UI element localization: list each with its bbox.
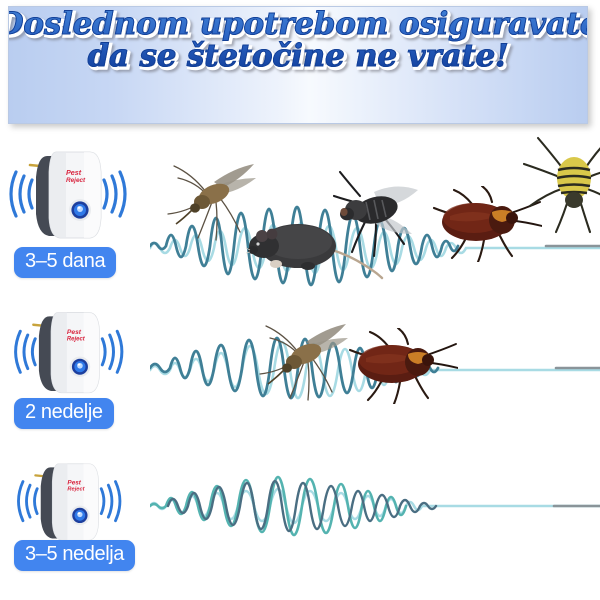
device-block-2: Pest Reject 2 nedelje (4, 292, 154, 442)
sound-wave-arcs-right (104, 172, 125, 216)
sound-wave-arcs-left (18, 482, 37, 521)
device-body-highlight (84, 313, 100, 393)
cockroach-head (422, 354, 434, 366)
duration-badge-1[interactable]: 3–5 dana (14, 247, 116, 278)
timeline-row-3: Pest Reject 3–5 nedelja (0, 444, 600, 598)
headline-line2: da se štetočine ne vrate! (8, 41, 588, 73)
device-body-shade (52, 464, 67, 541)
pest-reject-device-icon: Pest Reject (4, 446, 154, 551)
headline-wrapper: Doslednom upotrebom osiguravate da se št… (8, 9, 588, 72)
page-title: Doslednom upotrebom osiguravate da se št… (8, 9, 588, 72)
device-body-shade (49, 152, 66, 238)
pest-cockroach (348, 328, 458, 404)
rat-eye (256, 242, 259, 245)
rat-paw-rear (301, 262, 315, 270)
duration-badge-2[interactable]: 2 nedelje (14, 398, 114, 429)
rat-ear-left (256, 230, 268, 242)
sound-wave-arcs-right (101, 482, 120, 521)
svg-text:Pest: Pest (67, 329, 82, 336)
device-led-indicator (70, 506, 90, 526)
device-body-highlight (84, 152, 101, 238)
sound-wave-arcs-right (102, 331, 122, 372)
pest-spider (522, 136, 600, 236)
device-block-3: Pest Reject 3–5 nedelja (4, 444, 154, 598)
timeline-row-1: Pest Reject 3–5 dana (0, 130, 600, 290)
svg-text:Reject: Reject (67, 486, 85, 492)
cockroach-head (506, 212, 518, 224)
fly-eye (340, 208, 347, 216)
wave-area-1 (150, 130, 600, 290)
device-led-indicator (69, 199, 91, 221)
wave-area-2 (150, 292, 600, 442)
page-root: Doslednom upotrebom osiguravate da se št… (0, 0, 600, 600)
svg-text:Reject: Reject (67, 337, 86, 343)
device-block-1: Pest Reject 3–5 dana (4, 130, 154, 290)
device-led-indicator (70, 356, 91, 377)
device-body-shade (51, 313, 67, 393)
sound-wave-arcs-left (16, 331, 36, 372)
svg-text:Pest: Pest (66, 168, 82, 177)
svg-text:Reject: Reject (66, 177, 86, 184)
headline-line1: Doslednom upotrebom osiguravate (8, 9, 588, 41)
header-banner: Doslednom upotrebom osiguravate da se št… (8, 6, 588, 124)
pest-reject-device-icon: Pest Reject (4, 294, 154, 404)
pest-reject-device-icon: Pest Reject (4, 132, 154, 250)
device-body-highlight (83, 464, 98, 541)
pest-fly (332, 166, 426, 258)
rat-ear-right (267, 229, 278, 240)
timeline-row-2: Pest Reject 2 nedelje (0, 292, 600, 442)
pest-mosquito (254, 312, 354, 404)
spider-cephalothorax (565, 192, 583, 208)
sound-wave-arcs-left (11, 172, 32, 216)
wave-area-3 (150, 444, 600, 598)
duration-badge-3[interactable]: 3–5 nedelja (14, 540, 135, 571)
rat-paw-front (270, 260, 282, 268)
ultrasonic-waveform-low (150, 444, 600, 598)
svg-text:Pest: Pest (67, 479, 81, 486)
